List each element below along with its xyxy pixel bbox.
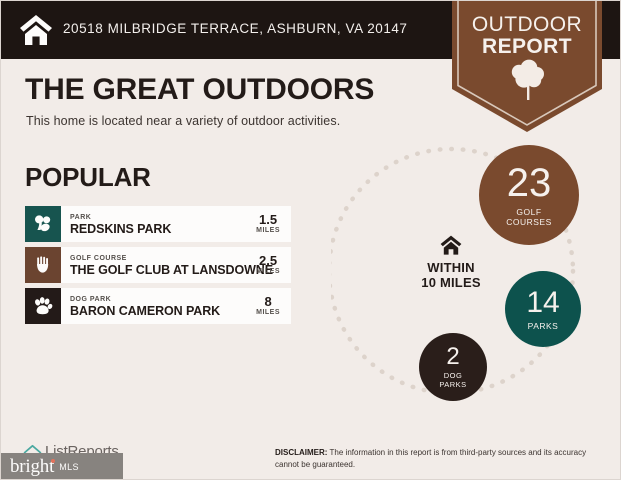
list-item-distance: 1.5 MILES: [252, 213, 291, 236]
page-title: THE GREAT OUTDOORS: [25, 73, 374, 107]
list-item[interactable]: GOLF COURSE THE GOLF CLUB AT LANSDOWNE 2…: [25, 247, 291, 283]
bright-mls-badge: bright MLS: [1, 453, 123, 480]
list-item-category: DOG PARK: [70, 295, 252, 304]
list-item-text: PARK REDSKINS PARK: [61, 213, 252, 236]
outdoor-report-page: 20518 MILBRIDGE TERRACE, ASHBURN, VA 201…: [0, 0, 621, 480]
diagram-center: WITHIN 10 MILES: [391, 235, 511, 290]
within-10-miles-diagram: WITHIN 10 MILES 23 GOLF COURSES 14 PARKS…: [331, 131, 621, 431]
home-icon: [440, 235, 462, 255]
diagram-center-line2: 10 MILES: [391, 275, 511, 290]
property-address: 20518 MILBRIDGE TERRACE, ASHBURN, VA 201…: [63, 21, 408, 36]
distance-unit: MILES: [256, 267, 280, 277]
stat-value: 14: [526, 288, 559, 318]
stat-circle-dog-parks[interactable]: 2 DOG PARKS: [419, 333, 487, 401]
distance-unit: MILES: [256, 308, 280, 318]
list-item-text: GOLF COURSE THE GOLF CLUB AT LANSDOWNE: [61, 254, 252, 277]
list-item-distance: 8 MILES: [252, 295, 291, 318]
list-item-category: GOLF COURSE: [70, 254, 252, 263]
stat-label-line1: GOLF: [516, 207, 541, 217]
stat-label-line2: PARKS: [439, 380, 466, 389]
stat-circle-golf-courses[interactable]: 23 GOLF COURSES: [479, 145, 579, 245]
list-item[interactable]: DOG PARK BARON CAMERON PARK 8 MILES: [25, 288, 291, 324]
stat-value: 2: [446, 345, 459, 369]
page-subtitle: This home is located near a variety of o…: [26, 114, 340, 128]
stat-label-line1: DOG: [444, 371, 463, 380]
golf-icon: [25, 247, 61, 283]
distance-value: 1.5: [256, 213, 280, 226]
stat-label-line1: PARKS: [528, 321, 559, 331]
distance-unit: MILES: [256, 226, 280, 236]
popular-list: PARK REDSKINS PARK 1.5 MILES GOLF COURSE: [25, 206, 291, 329]
outdoor-report-badge: OUTDOOR REPORT: [452, 1, 602, 132]
list-item-name: BARON CAMERON PARK: [70, 304, 252, 318]
diagram-center-line1: WITHIN: [391, 260, 511, 275]
popular-heading: POPULAR: [25, 162, 151, 193]
bright-text: bright: [10, 456, 54, 477]
mls-suffix: MLS: [59, 462, 79, 472]
paw-icon: [25, 288, 61, 324]
list-item-name: REDSKINS PARK: [70, 222, 252, 236]
list-item-category: PARK: [70, 213, 252, 222]
stat-circle-parks[interactable]: 14 PARKS: [505, 271, 581, 347]
stat-value: 23: [507, 163, 552, 203]
disclaimer-label: DISCLAIMER:: [275, 448, 327, 457]
park-icon: [25, 206, 61, 242]
list-item[interactable]: PARK REDSKINS PARK 1.5 MILES: [25, 206, 291, 242]
home-icon: [19, 14, 53, 46]
list-item-distance: 2.5 MILES: [252, 254, 291, 277]
stat-label-line2: COURSES: [506, 217, 552, 227]
list-item-text: DOG PARK BARON CAMERON PARK: [61, 295, 252, 318]
distance-value: 8: [256, 295, 280, 308]
distance-value: 2.5: [256, 254, 280, 267]
bright-mls-name: bright: [10, 456, 54, 478]
bright-dot-icon: [51, 459, 55, 463]
disclaimer: DISCLAIMER: The information in this repo…: [275, 447, 597, 470]
list-item-name: THE GOLF CLUB AT LANSDOWNE: [70, 263, 252, 277]
